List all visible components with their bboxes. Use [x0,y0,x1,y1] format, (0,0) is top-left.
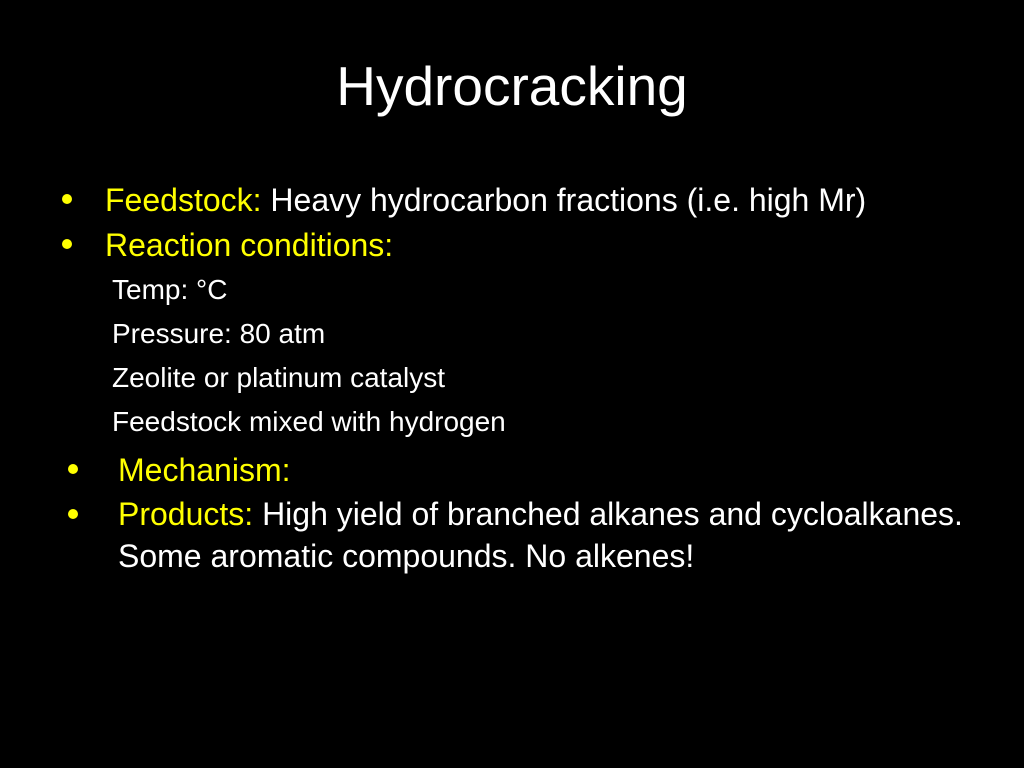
slide-canvas: Hydrocracking Feedstock: Heavy hydrocarb… [0,0,1024,768]
bullet-label-feedstock: Feedstock: [105,182,262,218]
condition-line-pressure: Pressure: 80 atm [0,312,1024,356]
bullet-item-products: Products: High yield of branched alkanes… [0,493,1024,577]
bullet-dot-icon [62,194,72,204]
condition-line-temperature: Temp: °C [0,268,1024,312]
bullet-label-products: Products: [118,496,253,532]
bullet-dot-icon [68,464,78,474]
bullet-item-feedstock: Feedstock: Heavy hydrocarbon fractions (… [0,178,1024,223]
bullet-item-mechanism: Mechanism: [0,448,1024,493]
bullet-label-mechanism: Mechanism: [118,452,291,488]
condition-line-hydrogen-mix: Feedstock mixed with hydrogen [0,400,1024,444]
bullet-dot-icon [68,509,78,519]
bullet-dot-icon [62,239,72,249]
bullet-text-feedstock: Heavy hydrocarbon fractions (i.e. high M… [262,182,867,218]
page-title: Hydrocracking [0,58,1024,116]
bullet-label-reaction-conditions: Reaction conditions: [105,227,393,263]
condition-line-catalyst: Zeolite or platinum catalyst [0,356,1024,400]
slide-body: Feedstock: Heavy hydrocarbon fractions (… [0,178,1024,577]
bullet-item-reaction-conditions: Reaction conditions: [0,223,1024,268]
